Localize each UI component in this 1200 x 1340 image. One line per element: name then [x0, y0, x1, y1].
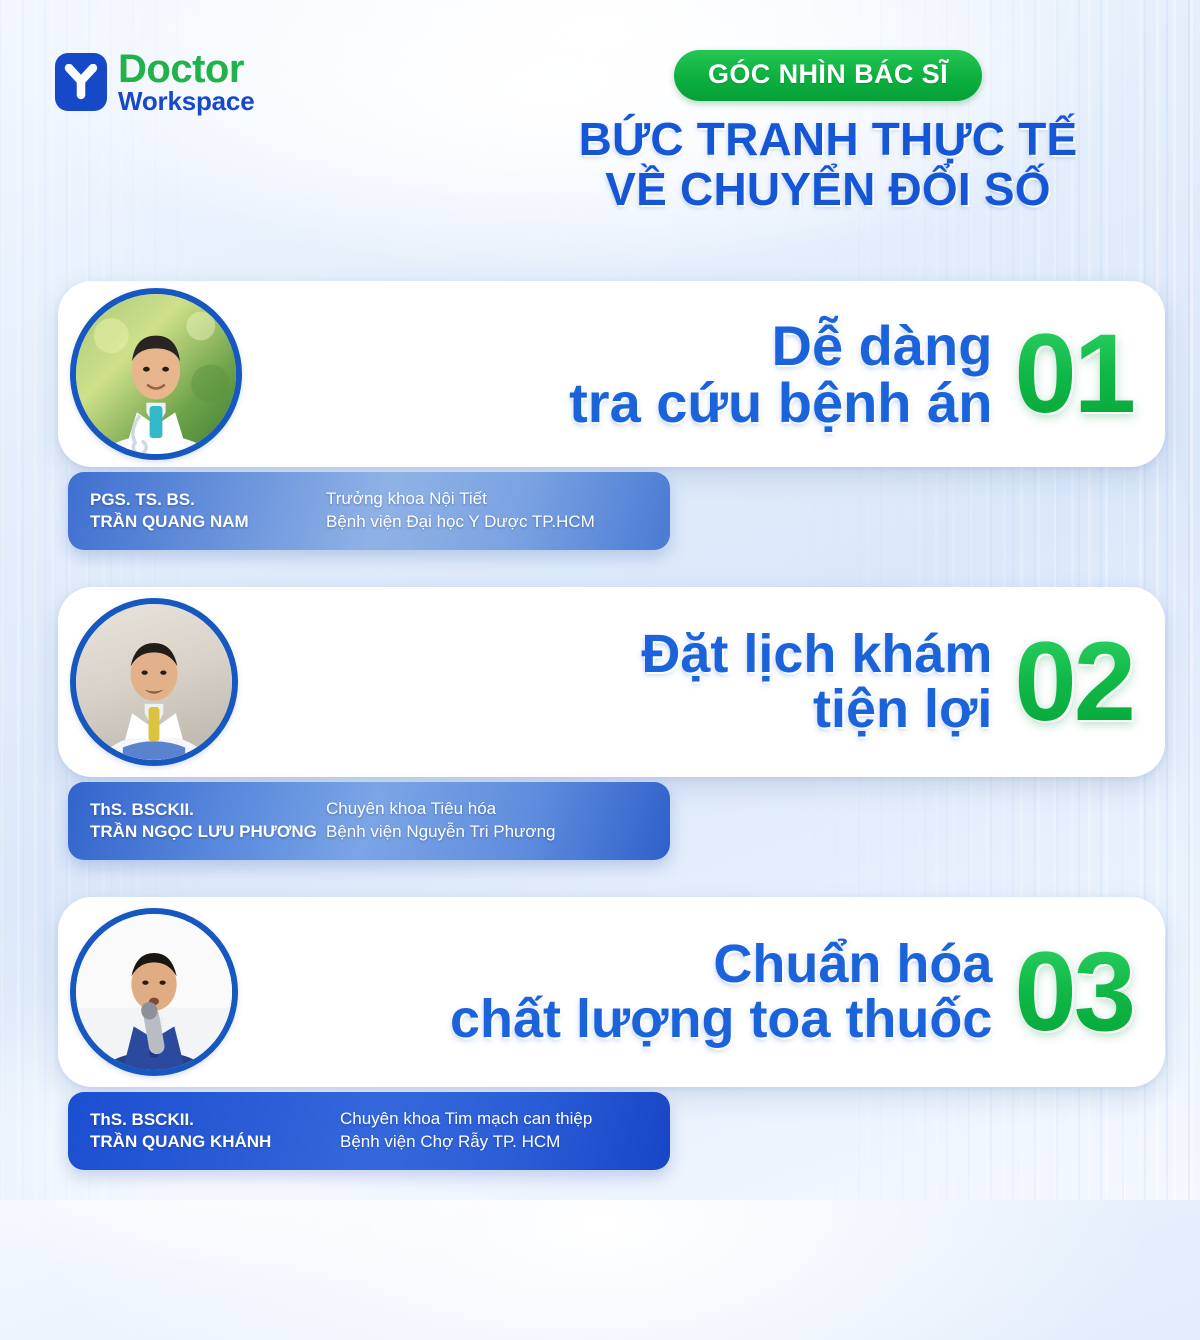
doctor-specialty: Trưởng khoa Nội Tiết [326, 488, 670, 511]
doctor-name-bar: PGS. TS. BS. TRẦN QUANG NAM Trưởng khoa … [68, 472, 670, 550]
card-headline-line1: Đặt lịch khám [254, 627, 992, 682]
card-headline: Đặt lịch khám tiện lợi [254, 627, 1014, 737]
page-title-line2: VỀ CHUYỂN ĐỔI SỐ [498, 165, 1158, 215]
doctor-full-name: TRẦN QUANG KHÁNH [90, 1131, 340, 1153]
doctor-name-bar: ThS. BSCKII. TRẦN NGỌC LƯU PHƯƠNG Chuyên… [68, 782, 670, 860]
card-headline: Chuẩn hóa chất lượng toa thuốc [254, 937, 1014, 1047]
card-headline: Dễ dàng tra cứu bệnh án [254, 317, 1014, 431]
doctor-meta: Chuyên khoa Tiêu hóa Bệnh viện Nguyễn Tr… [326, 798, 670, 844]
card-headline-line2: tiện lợi [254, 682, 992, 737]
doctor-name: ThS. BSCKII. TRẦN QUANG KHÁNH [68, 1109, 340, 1154]
page-title-line1: BỨC TRANH THỰC TẾ [498, 115, 1158, 165]
doctor-specialty: Chuyên khoa Tiêu hóa [326, 798, 670, 821]
brand-logo: Doctor Workspace [55, 50, 254, 114]
doctor-specialty: Chuyên khoa Tim mạch can thiệp [340, 1108, 670, 1131]
feature-card: Chuẩn hóa chất lượng toa thuốc 03 [58, 897, 1165, 1087]
doctor-title: ThS. BSCKII. [90, 799, 336, 821]
doctor-name-bar: ThS. BSCKII. TRẦN QUANG KHÁNH Chuyên kho… [68, 1092, 670, 1170]
card-headline-line2: chất lượng toa thuốc [254, 992, 992, 1047]
header-badge: GÓC NHÌN BÁC SĨ [674, 50, 982, 101]
doctor-full-name: TRẦN NGỌC LƯU PHƯƠNG [90, 821, 336, 843]
doctor-full-name: TRẦN QUANG NAM [90, 511, 326, 533]
page-title: BỨC TRANH THỰC TẾ VỀ CHUYỂN ĐỔI SỐ [498, 115, 1158, 214]
feature-card: Dễ dàng tra cứu bệnh án 01 [58, 281, 1165, 467]
doctor-photo-1 [70, 288, 242, 460]
doctor-hospital: Bệnh viện Nguyễn Tri Phương [326, 821, 670, 844]
doctor-name: ThS. BSCKII. TRẦN NGỌC LƯU PHƯƠNG [68, 799, 336, 844]
brand-name-workspace: Workspace [118, 89, 254, 114]
card-headline-line2: tra cứu bệnh án [254, 374, 992, 431]
doctor-photo-3 [70, 908, 238, 1076]
doctor-hospital: Bệnh viện Chợ Rẫy TP. HCM [340, 1131, 670, 1154]
card-number: 03 [1014, 942, 1165, 1043]
card-number: 02 [1014, 632, 1165, 733]
doctor-meta: Chuyên khoa Tim mạch can thiệp Bệnh viện… [340, 1108, 670, 1154]
header-block: GÓC NHÌN BÁC SĨ BỨC TRANH THỰC TẾ VỀ CHU… [498, 50, 1158, 214]
y-logo-icon [55, 53, 107, 111]
doctor-title: PGS. TS. BS. [90, 489, 326, 511]
brand-name-doctor: Doctor [118, 50, 254, 89]
card-number: 01 [1014, 324, 1165, 425]
doctor-name: PGS. TS. BS. TRẦN QUANG NAM [68, 489, 326, 534]
doctor-title: ThS. BSCKII. [90, 1109, 340, 1131]
card-headline-line1: Dễ dàng [254, 317, 992, 374]
doctor-photo-2 [70, 598, 238, 766]
feature-card: Đặt lịch khám tiện lợi 02 [58, 587, 1165, 777]
doctor-hospital: Bệnh viện Đại học Y Dược TP.HCM [326, 511, 670, 534]
card-headline-line1: Chuẩn hóa [254, 937, 992, 992]
doctor-meta: Trưởng khoa Nội Tiết Bệnh viện Đại học Y… [326, 488, 670, 534]
brand-wordmark: Doctor Workspace [118, 50, 254, 114]
